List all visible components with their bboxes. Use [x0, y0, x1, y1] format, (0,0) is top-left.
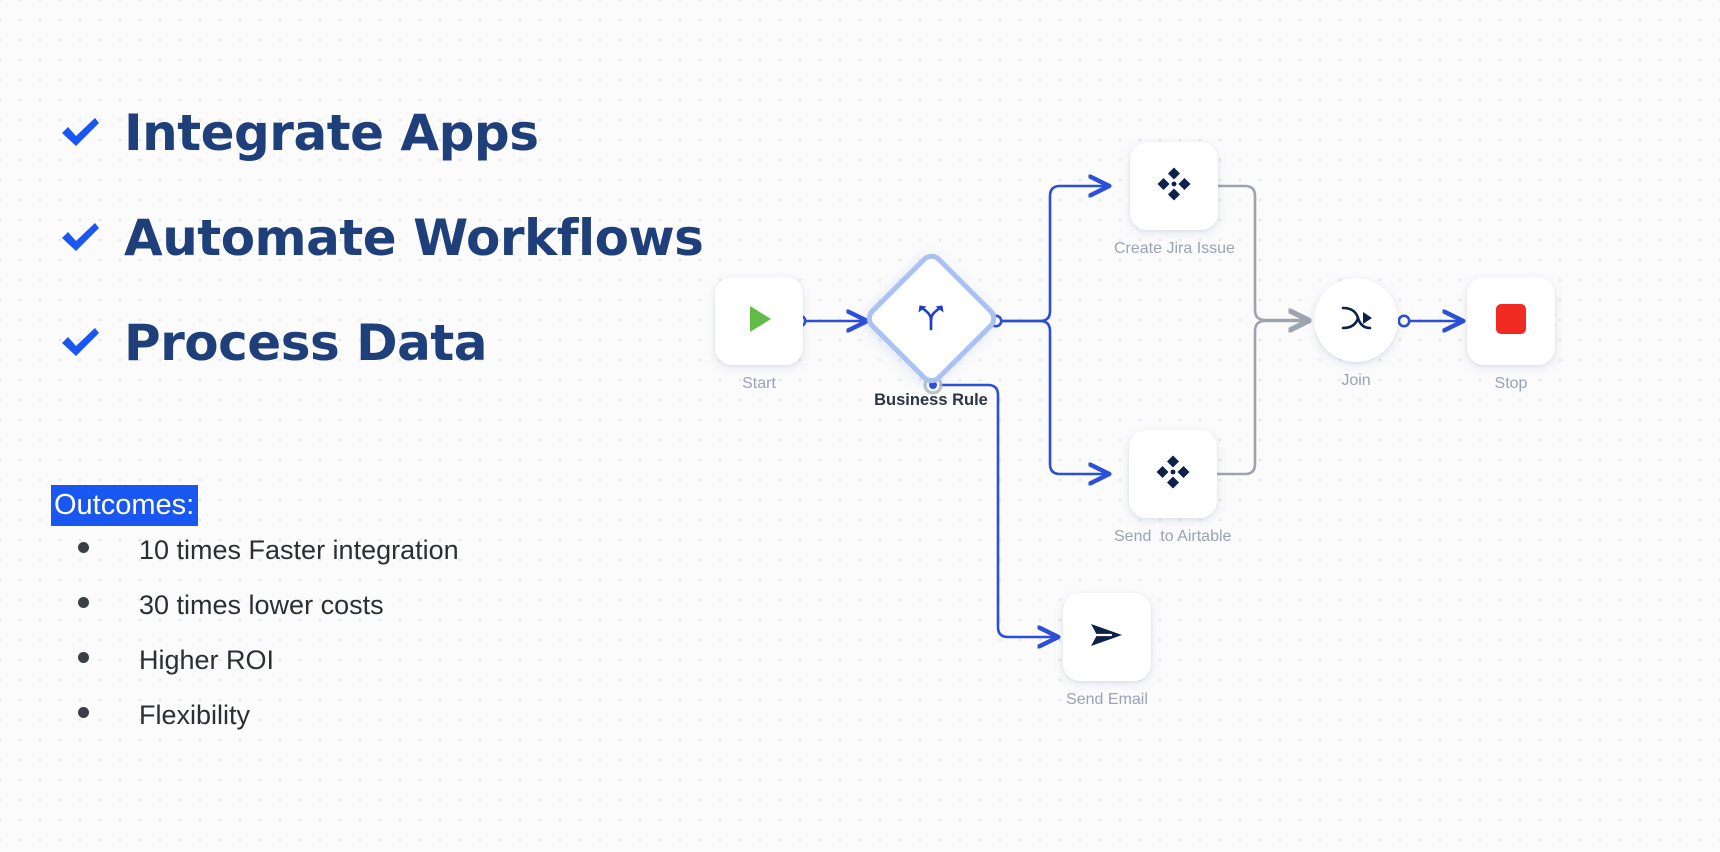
connector-rule-to-jira: [991, 186, 1108, 326]
list-item: 10 times Faster integration: [78, 535, 459, 590]
headline-row-automate-workflows: Automate Workflows: [58, 213, 703, 263]
outcomes-heading: Outcomes:: [51, 485, 198, 526]
merge-arrow-icon: [1339, 303, 1373, 338]
jira-icon: [1156, 166, 1192, 207]
bullet-dot-icon: [78, 652, 89, 663]
list-item: Flexibility: [78, 700, 459, 755]
node-stop-label: Stop: [1495, 375, 1528, 393]
node-send-to-airtable[interactable]: Send to Airtable: [1114, 430, 1231, 546]
list-item: Higher ROI: [78, 645, 459, 700]
node-send-to-airtable-label: Send to Airtable: [1114, 528, 1231, 546]
bullet-dot-icon: [78, 542, 89, 553]
node-business-rule-label: Business Rule: [874, 391, 988, 410]
left-content-panel: Integrate Apps Automate Workflows Proces…: [0, 0, 740, 852]
workflow-diagram: Start Business Rule: [740, 0, 1720, 852]
node-stop[interactable]: Stop: [1467, 277, 1555, 393]
list-item: 30 times lower costs: [78, 590, 459, 645]
list-item-label: 30 times lower costs: [139, 590, 384, 621]
check-icon: [58, 216, 102, 260]
outcomes-list: 10 times Faster integration 30 times low…: [78, 535, 459, 755]
node-stop-box[interactable]: [1467, 277, 1555, 365]
node-create-jira-issue-label: Create Jira Issue: [1114, 240, 1235, 258]
node-send-email-box[interactable]: [1063, 593, 1151, 681]
headline-row-process-data: Process Data: [58, 318, 487, 368]
node-send-email[interactable]: Send Email: [1063, 593, 1151, 709]
node-join[interactable]: Join: [1314, 278, 1398, 390]
stop-square-icon: [1495, 303, 1527, 340]
headline-label: Automate Workflows: [124, 213, 703, 263]
airtable-icon: [1155, 454, 1191, 495]
slide-root: Integrate Apps Automate Workflows Proces…: [0, 0, 1720, 852]
headline-row-integrate-apps: Integrate Apps: [58, 108, 538, 158]
headline-label: Process Data: [124, 318, 487, 368]
play-icon: [742, 302, 776, 341]
node-join-label: Join: [1341, 372, 1370, 390]
node-start[interactable]: Start: [715, 277, 803, 393]
list-item-label: Higher ROI: [139, 645, 274, 676]
list-item-label: Flexibility: [139, 700, 250, 731]
bullet-dot-icon: [78, 597, 89, 608]
node-create-jira-issue[interactable]: Create Jira Issue: [1114, 142, 1235, 258]
branch-fork-icon: [915, 300, 947, 337]
check-icon: [58, 111, 102, 155]
node-start-box[interactable]: [715, 277, 803, 365]
node-send-to-airtable-box[interactable]: [1129, 430, 1217, 518]
workflow-connectors: [740, 0, 1720, 852]
node-join-box[interactable]: [1314, 278, 1398, 362]
node-start-label: Start: [742, 375, 776, 393]
send-plane-icon: [1089, 620, 1125, 655]
connector-rule-to-email: [924, 376, 1058, 638]
connector-rule-to-airtable: [1002, 321, 1108, 474]
node-business-rule-box[interactable]: [868, 255, 994, 381]
connector-join-to-stop: [1399, 316, 1462, 326]
node-send-email-label: Send Email: [1066, 691, 1148, 709]
node-business-rule[interactable]: Business Rule: [868, 255, 994, 410]
connector-start-to-rule: [795, 316, 866, 326]
node-create-jira-issue-box[interactable]: [1130, 142, 1218, 230]
list-item-label: 10 times Faster integration: [139, 535, 459, 566]
bullet-dot-icon: [78, 707, 89, 718]
headline-label: Integrate Apps: [124, 108, 538, 158]
check-icon: [58, 321, 102, 365]
